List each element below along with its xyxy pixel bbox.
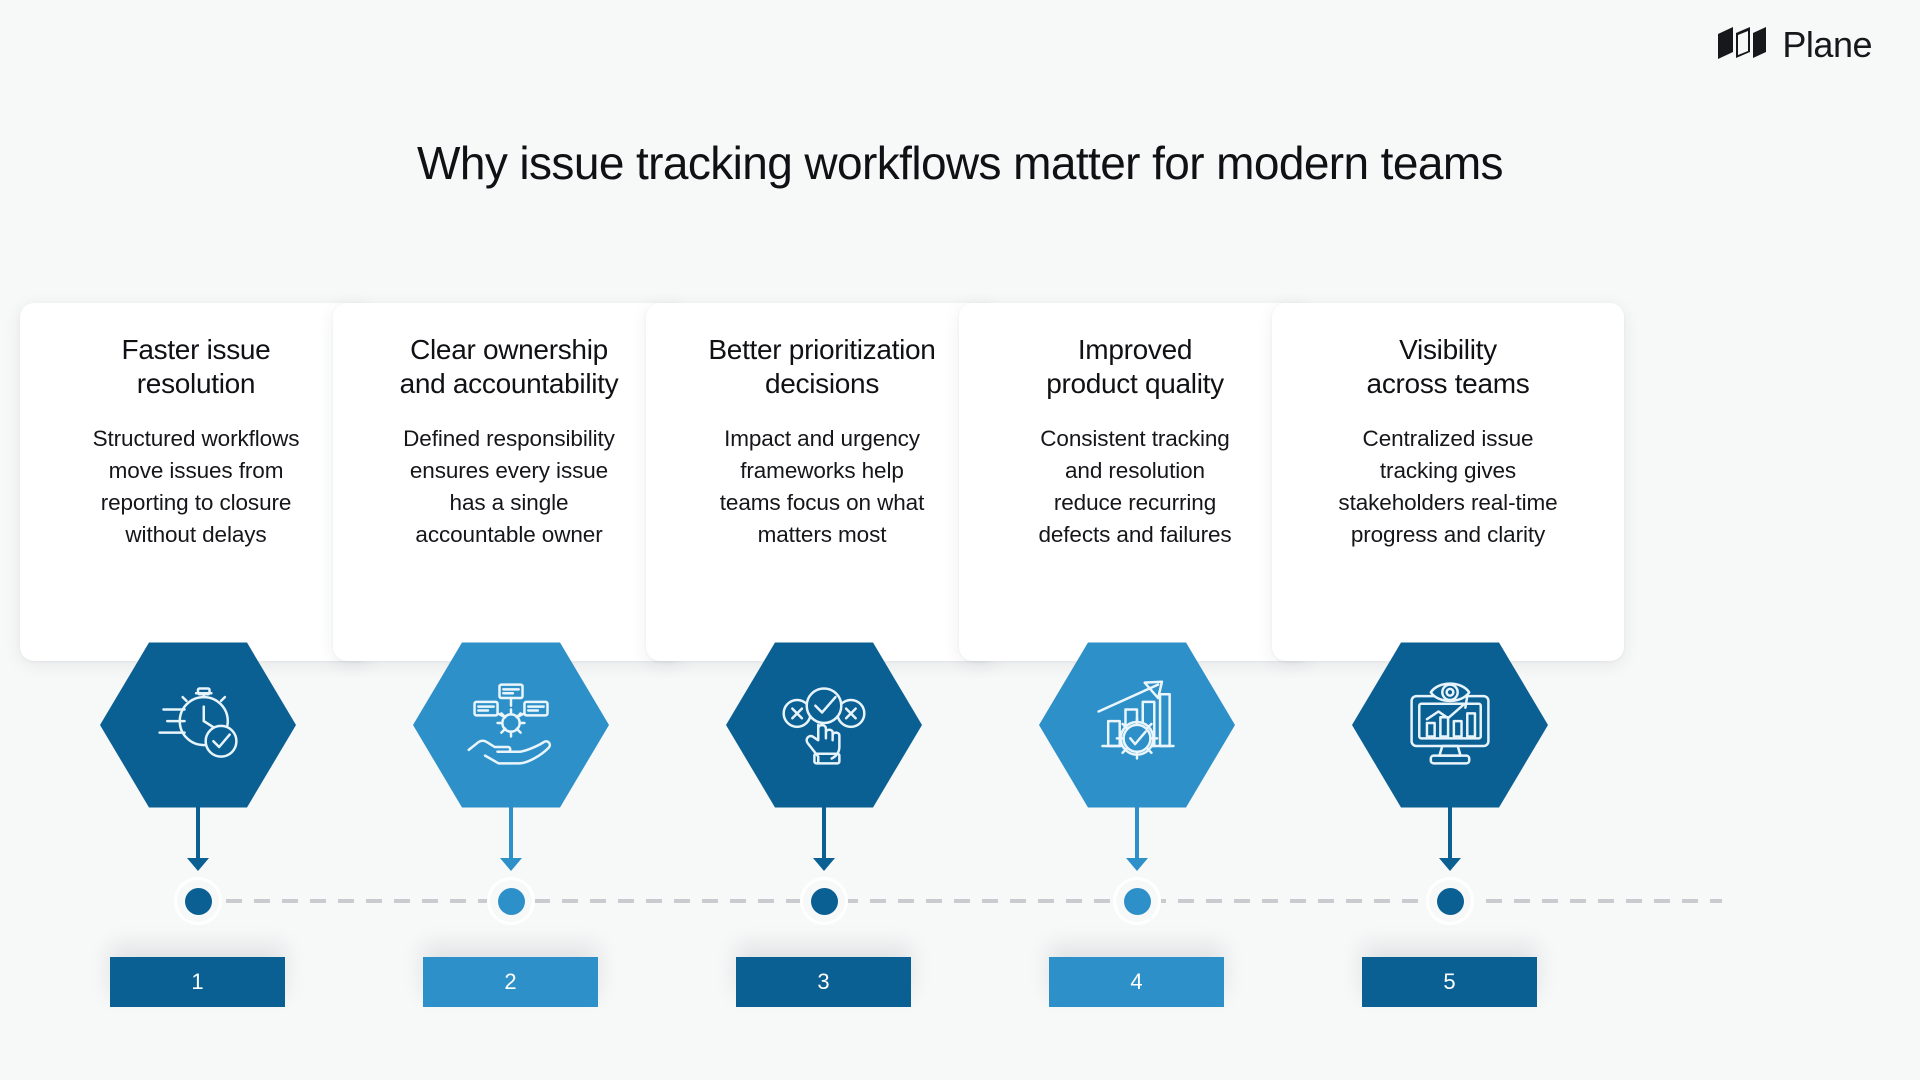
arrow-stem-4: [1135, 800, 1139, 862]
step-card-title: Improved product quality: [983, 333, 1287, 401]
timeline-dot-5: [1429, 880, 1471, 922]
step-number: 1: [191, 969, 203, 995]
step-number: 2: [504, 969, 516, 995]
step-number: 4: [1130, 969, 1142, 995]
step-card-body: Centralized issue tracking gives stakeho…: [1296, 423, 1600, 551]
arrow-head-2: [500, 858, 522, 871]
step-card-title: Clear ownership and accountability: [357, 333, 661, 401]
arrow-head-4: [1126, 858, 1148, 871]
step-card-2: Clear ownership and accountability Defin…: [333, 303, 685, 661]
step-number: 3: [817, 969, 829, 995]
arrow-stem-3: [822, 800, 826, 862]
step-number-box-5: 5: [1362, 957, 1537, 1007]
step-card-5: Visibility across teams Centralized issu…: [1272, 303, 1624, 661]
step-card-4: Improved product quality Consistent trac…: [959, 303, 1311, 661]
timeline-dot-4: [1116, 880, 1158, 922]
monitor-eye-chart-icon: [1402, 675, 1498, 776]
step-card-title: Visibility across teams: [1296, 333, 1600, 401]
step-card-title: Better prioritization decisions: [670, 333, 974, 401]
brand-logo: Plane: [1716, 24, 1872, 66]
timeline-dot-1: [177, 880, 219, 922]
hexagon-badge-5: [1352, 640, 1548, 810]
arrow-head-3: [813, 858, 835, 871]
arrow-stem-2: [509, 800, 513, 862]
step-number: 5: [1443, 969, 1455, 995]
hexagon-badge-2: [413, 640, 609, 810]
growth-chart-gear-check-icon: [1089, 675, 1185, 776]
step-card-body: Consistent tracking and resolution reduc…: [983, 423, 1287, 551]
step-number-box-4: 4: [1049, 957, 1224, 1007]
cards-row: Faster issue resolution Structured workf…: [0, 303, 1920, 663]
arrow-head-5: [1439, 858, 1461, 871]
arrow-head-1: [187, 858, 209, 871]
hand-pointing-choice-icon: [776, 675, 872, 776]
hexagon-badge-1: [100, 640, 296, 810]
hexagon-badge-4: [1039, 640, 1235, 810]
brand-name: Plane: [1782, 24, 1872, 66]
page-title: Why issue tracking workflows matter for …: [0, 136, 1920, 190]
hand-gear-messages-icon: [463, 675, 559, 776]
hexagon-badge-3: [726, 640, 922, 810]
step-card-1: Faster issue resolution Structured workf…: [20, 303, 372, 661]
step-number-box-3: 3: [736, 957, 911, 1007]
stopwatch-check-icon: [150, 675, 246, 776]
timeline-track: [198, 899, 1722, 903]
step-card-body: Impact and urgency frameworks help teams…: [670, 423, 974, 551]
step-card-body: Structured workflows move issues from re…: [44, 423, 348, 551]
timeline-dot-3: [803, 880, 845, 922]
arrow-stem-1: [196, 800, 200, 862]
step-number-box-1: 1: [110, 957, 285, 1007]
step-card-body: Defined responsibility ensures every iss…: [357, 423, 661, 551]
plane-logo-icon: [1716, 25, 1770, 66]
arrow-stem-5: [1448, 800, 1452, 862]
timeline-dot-2: [490, 880, 532, 922]
hexagon-icons-row: [0, 640, 1920, 820]
step-card-title: Faster issue resolution: [44, 333, 348, 401]
step-card-3: Better prioritization decisions Impact a…: [646, 303, 998, 661]
infographic-canvas: Plane Why issue tracking workflows matte…: [0, 0, 1920, 1080]
step-number-box-2: 2: [423, 957, 598, 1007]
